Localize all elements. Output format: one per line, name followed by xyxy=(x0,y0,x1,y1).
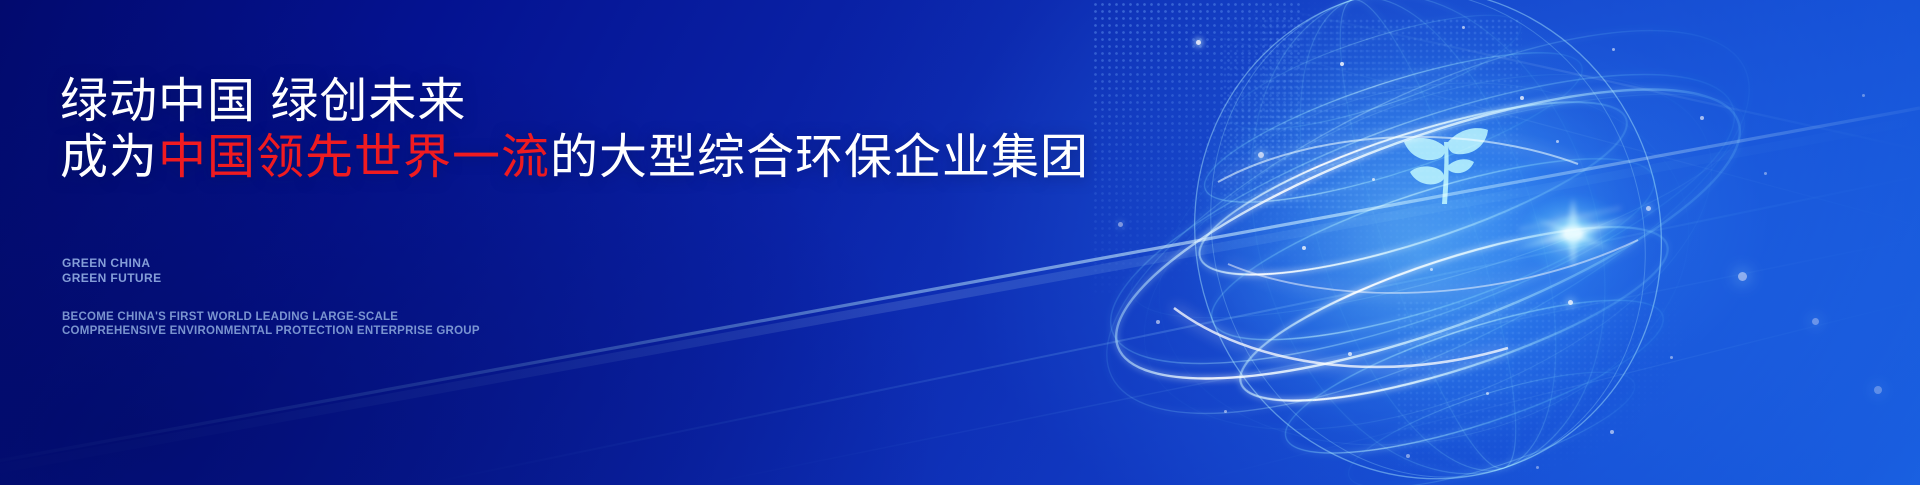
hero-banner: 绿动中国 绿创未来 成为中国领先世界一流的大型综合环保企业集团 GREEN CH… xyxy=(0,0,1920,485)
hero-text-block: 绿动中国 绿创未来 成为中国领先世界一流的大型综合环保企业集团 GREEN CH… xyxy=(60,0,1060,485)
wireframe-globe-icon xyxy=(1078,0,1778,485)
headline-line-2-prefix: 成为 xyxy=(60,131,158,184)
headline-line-2: 成为中国领先世界一流的大型综合环保企业集团 xyxy=(60,130,1089,186)
tagline-line-1: GREEN CHINA xyxy=(62,256,161,271)
light-burst-icon xyxy=(1498,168,1648,298)
headline-line-1: 绿动中国 绿创未来 xyxy=(60,74,1089,130)
subtitle: BECOME CHINA'S FIRST WORLD LEADING LARGE… xyxy=(62,310,480,339)
sprout-leaf-icon xyxy=(1400,112,1492,208)
headline: 绿动中国 绿创未来 成为中国领先世界一流的大型综合环保企业集团 xyxy=(60,74,1089,185)
headline-line-2-accent: 中国领先世界一流 xyxy=(158,131,550,184)
headline-line-2-suffix: 的大型综合环保企业集团 xyxy=(550,131,1089,184)
subtitle-line-1: BECOME CHINA'S FIRST WORLD LEADING LARGE… xyxy=(62,310,480,324)
tagline-line-2: GREEN FUTURE xyxy=(62,271,161,286)
tagline: GREEN CHINA GREEN FUTURE xyxy=(62,256,161,285)
subtitle-line-2: COMPREHENSIVE ENVIRONMENTAL PROTECTION E… xyxy=(62,324,480,338)
